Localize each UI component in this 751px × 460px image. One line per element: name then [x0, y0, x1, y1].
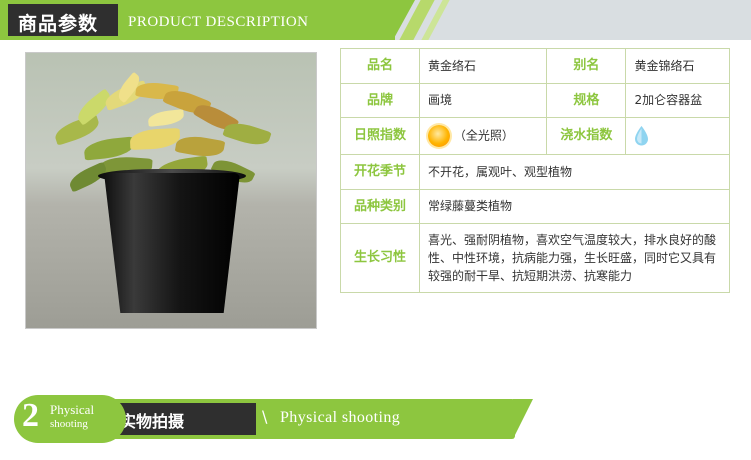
- spec-label-variety: 品种类别: [341, 189, 420, 224]
- bottom-title-cn: 实物拍摄: [120, 408, 184, 432]
- section-number: 2: [22, 397, 39, 435]
- spec-label-sunlight: 日照指数: [341, 118, 420, 155]
- spec-value-watering: [626, 118, 730, 155]
- spec-label-alias: 别名: [547, 49, 626, 84]
- bottom-separator: \: [262, 407, 267, 426]
- spec-label-watering: 浇水指数: [547, 118, 626, 155]
- bottom-title-en: Physical shooting: [280, 409, 400, 427]
- spec-value-alias: 黄金锦络石: [626, 49, 730, 84]
- page-header: 商品参数 PRODUCT DESCRIPTION: [0, 0, 751, 40]
- spec-value-bloom-season: 不开花，属观叶、观型植物: [420, 155, 730, 190]
- sun-icon: [428, 125, 450, 147]
- spec-value-sunlight: （全光照）: [420, 118, 547, 155]
- spec-label-spec: 规格: [547, 83, 626, 118]
- spec-value-name: 黄金络石: [420, 49, 547, 84]
- spec-table: 品名 黄金络石 别名 黄金锦络石 品牌 画境 规格 2加仑容器盆 日照指数 （全…: [340, 48, 730, 293]
- table-row: 品种类别 常绿藤蔓类植物: [341, 189, 730, 224]
- section-badge-line2: shooting: [50, 418, 88, 430]
- spec-value-brand: 画境: [420, 83, 547, 118]
- spec-label-name: 品名: [341, 49, 420, 84]
- table-row: 品名 黄金络石 别名 黄金锦络石: [341, 49, 730, 84]
- spec-value-sunlight-text: （全光照）: [454, 129, 514, 143]
- table-row: 品牌 画境 规格 2加仑容器盆: [341, 83, 730, 118]
- spec-value-variety: 常绿藤蔓类植物: [420, 189, 730, 224]
- product-photo: [25, 52, 317, 329]
- spec-value-habit: 喜光、强耐阴植物，喜欢空气温度较大，排水良好的酸性、中性环境，抗病能力强，生长旺…: [420, 224, 730, 293]
- header-title-cn: 商品参数: [18, 9, 98, 36]
- water-drop-icon: [634, 126, 649, 146]
- spec-label-habit: 生长习性: [341, 224, 420, 293]
- spec-value-spec: 2加仑容器盆: [626, 83, 730, 118]
- table-row: 开花季节 不开花，属观叶、观型植物: [341, 155, 730, 190]
- spec-label-bloom-season: 开花季节: [341, 155, 420, 190]
- table-row: 日照指数 （全光照） 浇水指数: [341, 118, 730, 155]
- spec-label-brand: 品牌: [341, 83, 420, 118]
- table-row: 生长习性 喜光、强耐阴植物，喜欢空气温度较大，排水良好的酸性、中性环境，抗病能力…: [341, 224, 730, 293]
- section-badge-line1: Physical: [50, 402, 94, 418]
- header-title-en: PRODUCT DESCRIPTION: [128, 14, 309, 31]
- plant-pot: [104, 173, 240, 313]
